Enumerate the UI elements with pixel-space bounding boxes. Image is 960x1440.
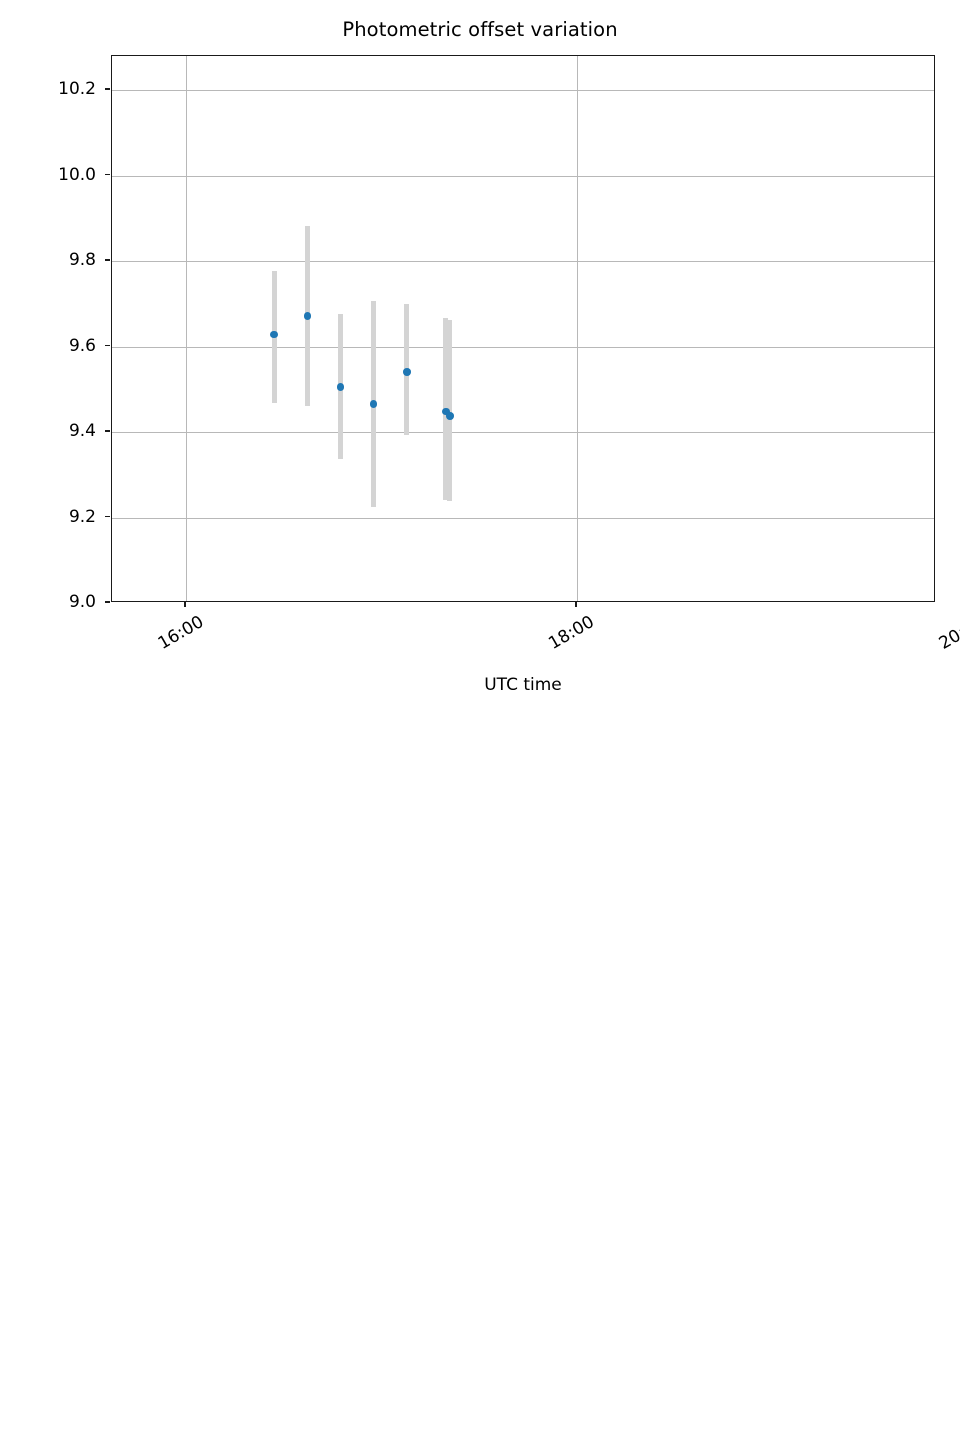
gridline-vertical [577,56,578,601]
y-tick-mark [105,345,110,347]
y-tick-label: 9.0 [69,592,96,612]
plot-area [111,55,935,602]
x-axis-label: UTC time [111,675,935,695]
y-tick-label: 9.2 [69,507,96,527]
data-point [304,312,312,320]
y-tick-label: 10.2 [58,79,96,99]
x-tick-label: 00:00 [236,612,960,1440]
y-tick-label: 9.8 [69,250,96,270]
data-point [403,368,411,376]
gridline-horizontal [112,347,934,348]
data-point [337,383,345,391]
data-point [270,331,278,339]
y-tick-label: 9.4 [69,421,96,441]
x-tick-mark [575,602,577,607]
y-tick-mark [105,516,110,518]
gridline-horizontal [112,432,934,433]
y-tick-label: 9.6 [69,336,96,356]
y-tick-label: 10.0 [58,165,96,185]
data-point [370,400,378,408]
y-axis-label: Photometric offset [0,260,2,417]
y-tick-mark [105,259,110,261]
chart-title: Photometric offset variation [0,18,960,41]
data-point [446,412,454,420]
chart-figure: Photometric offset variation 9.09.29.49.… [0,0,960,720]
gridline-horizontal [112,518,934,519]
gridline-horizontal [112,176,934,177]
y-tick-mark [105,174,110,176]
y-tick-mark [105,88,110,90]
x-tick-label: 22:00 [183,612,960,1314]
x-tick-label: 16:00 [26,612,207,728]
gridline-horizontal [112,90,934,91]
y-tick-mark [105,601,110,603]
gridline-horizontal [112,261,934,262]
x-tick-mark [184,602,186,607]
gridline-vertical [186,56,187,601]
y-tick-mark [105,430,110,432]
